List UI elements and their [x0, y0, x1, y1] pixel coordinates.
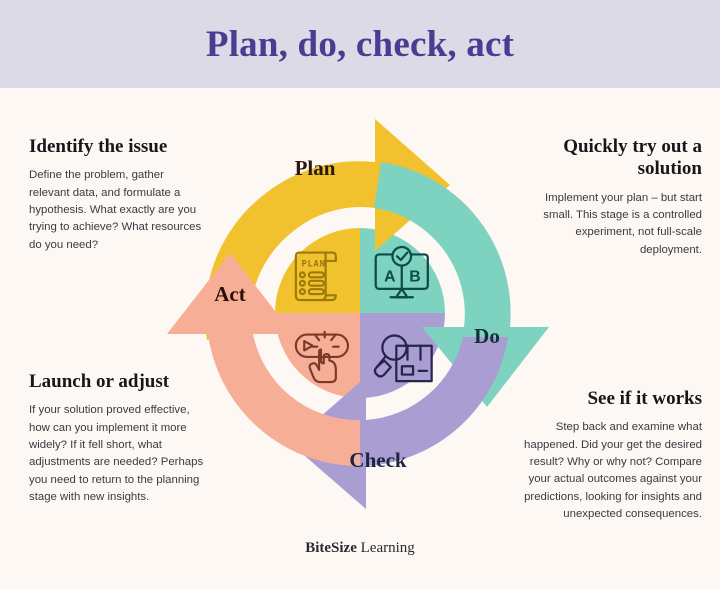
page-title: Plan, do, check, act: [206, 23, 514, 66]
infographic-page: Plan, do, check, act Identify the issue …: [0, 0, 720, 589]
arrow-label-check: Check: [349, 448, 406, 472]
svg-text:B: B: [409, 268, 420, 285]
svg-text:PLAN: PLAN: [301, 260, 325, 270]
ab-test-monitor-icon: A B: [376, 247, 428, 297]
arrow-label-do: Do: [474, 324, 500, 348]
brand-name-bold: BiteSize: [305, 540, 357, 556]
pdca-cycle-diagram: Plan Do Check Act PLAN: [150, 105, 570, 525]
svg-text:A: A: [384, 268, 395, 285]
header-band: Plan, do, check, act: [0, 0, 720, 88]
arrow-label-act: Act: [214, 282, 245, 306]
brand-name-light: Learning: [357, 540, 415, 556]
arrow-label-plan: Plan: [295, 156, 336, 180]
brand-footer: BiteSize Learning: [0, 540, 720, 557]
